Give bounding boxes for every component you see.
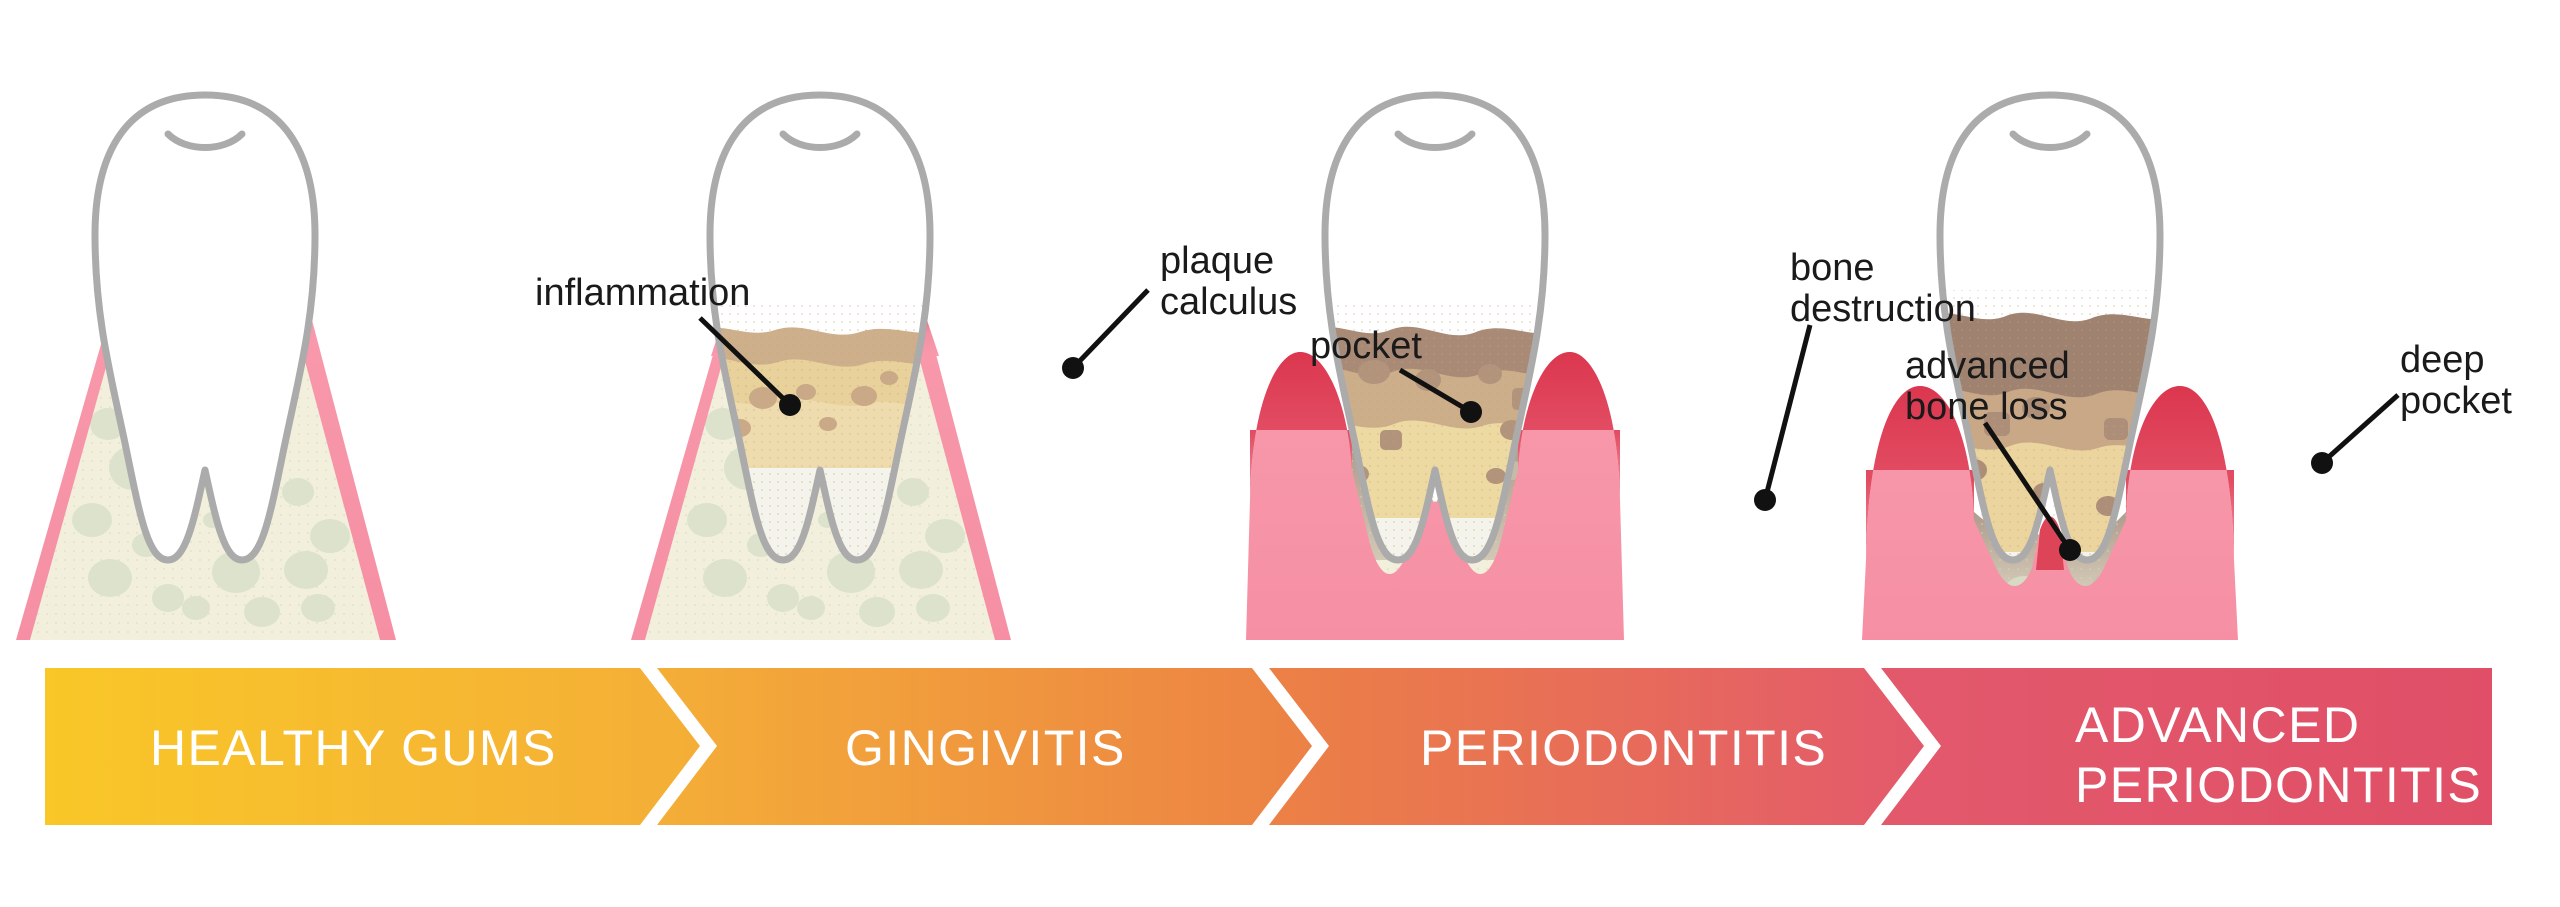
banner-label-gingivitis: GINGIVITIS <box>845 720 1126 776</box>
callout-label-inflammation: inflammation <box>535 272 750 314</box>
leader-dot <box>779 394 801 416</box>
leader-line <box>1073 290 1148 368</box>
leader-line <box>1765 325 1810 500</box>
stage-periodontitis <box>1246 95 1624 660</box>
callout-label-pocket: pocket <box>1310 325 1422 367</box>
banner-label-healthy-gums: HEALTHY GUMS <box>150 720 557 776</box>
banner-label-periodontitis: PERIODONTITIS <box>1420 720 1827 776</box>
leader-line <box>2322 395 2398 463</box>
callout-label-destruction: destruction <box>1790 288 1976 330</box>
leader-dot <box>1460 401 1482 423</box>
leader-dot <box>2059 539 2081 561</box>
infographic-canvas: inflammation plaque calculus pocket bone… <box>0 0 2560 907</box>
banner-segment-healthy-gums[interactable]: HEALTHY GUMS <box>45 668 700 825</box>
banner-label-advanced: ADVANCED <box>2075 697 2360 753</box>
banner-segment-gingivitis[interactable]: GINGIVITIS <box>657 668 1312 825</box>
callout-label-advanced: advanced <box>1905 345 2070 387</box>
callout-label-calculus: calculus <box>1160 281 1297 323</box>
callout-deep-pocket: deep pocket <box>2311 339 2512 474</box>
callout-label-deep: deep <box>2400 339 2485 381</box>
leader-dot <box>1754 489 1776 511</box>
stage-progression-banner: HEALTHY GUMS GINGIVITIS PERIODONTITIS AD… <box>45 668 2492 825</box>
periodontal-stages-infographic: inflammation plaque calculus pocket bone… <box>0 0 2560 907</box>
leader-dot <box>2311 452 2333 474</box>
banner-segment-advanced-periodontitis[interactable]: ADVANCED PERIODONTITIS <box>1881 668 2492 825</box>
banner-segment-periodontitis[interactable]: PERIODONTITIS <box>1269 668 1924 825</box>
leader-dot <box>1062 357 1084 379</box>
callout-label-plaque: plaque <box>1160 240 1274 282</box>
stage-gingivitis <box>631 95 1011 640</box>
banner-label-advanced-periodontitis: PERIODONTITIS <box>2075 757 2482 813</box>
stage-healthy-gums <box>16 95 396 640</box>
callout-label-bone-loss: bone loss <box>1905 386 2068 428</box>
callout-label-pocket2: pocket <box>2400 380 2512 422</box>
callout-plaque-calculus: plaque calculus <box>1062 240 1297 379</box>
callout-label-bone: bone <box>1790 247 1875 289</box>
